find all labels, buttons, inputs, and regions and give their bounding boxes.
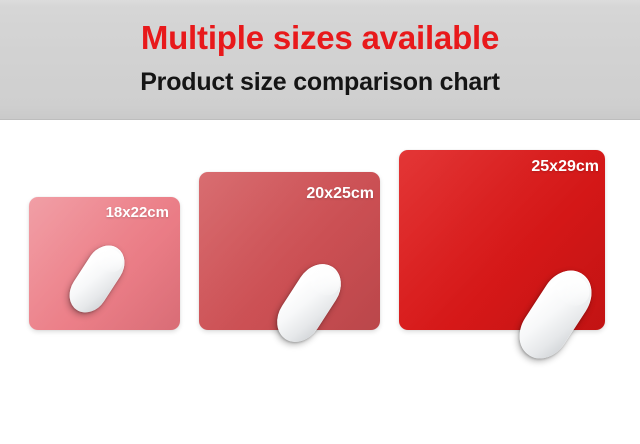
- size-label-medium: 20x25cm: [306, 186, 374, 202]
- product-comparison-area: 18x22cm 20x25cm 25x29cm: [0, 120, 640, 444]
- page-title: Multiple sizes available: [0, 21, 640, 54]
- header-banner: Multiple sizes available Product size co…: [0, 0, 640, 120]
- size-label-small: 18x22cm: [106, 205, 169, 220]
- page-subtitle: Product size comparison chart: [0, 70, 640, 95]
- size-label-large: 25x29cm: [531, 159, 599, 175]
